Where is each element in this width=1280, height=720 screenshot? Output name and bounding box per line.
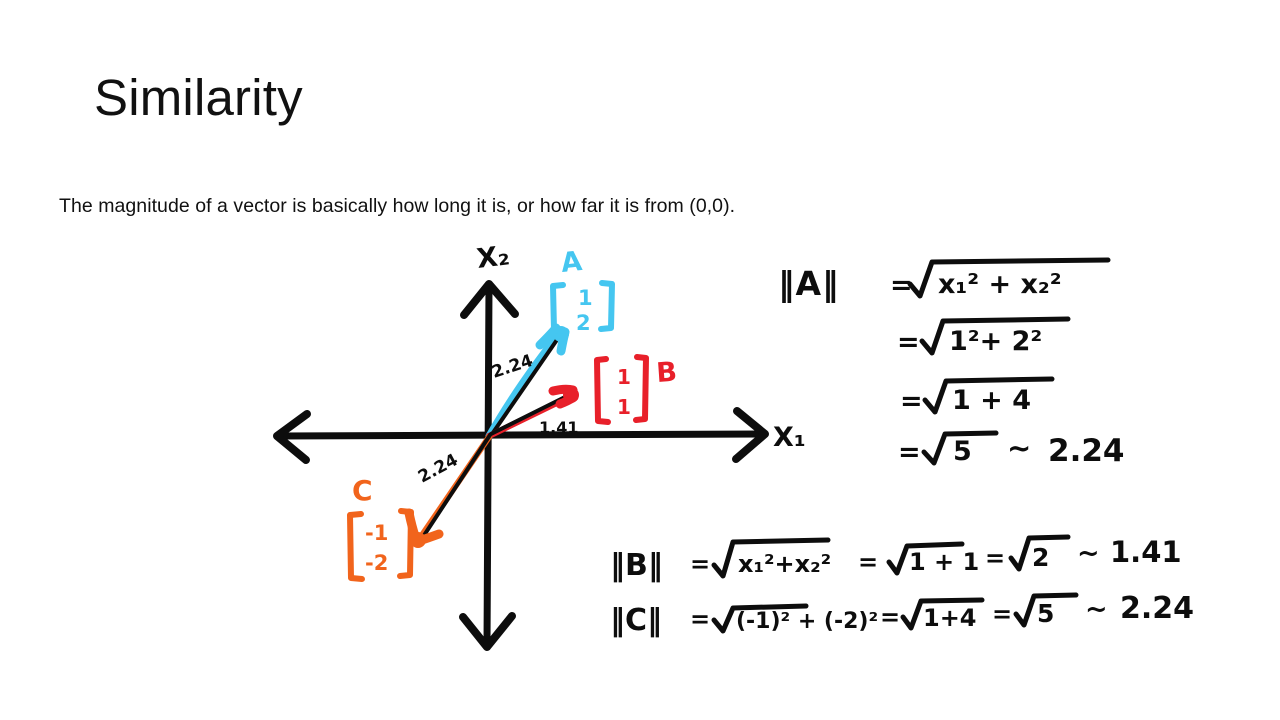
norm-c-value: 2.24: [1120, 591, 1194, 626]
norm-c-radicand-1: (-1)² + (-2)²: [736, 609, 878, 634]
norm-c-equals-1: =: [690, 605, 710, 633]
vector-b-bracket-right: [636, 357, 646, 420]
norm-c-radicand-2: 1+4: [923, 604, 977, 632]
norm-b-radicand-3: 2: [1032, 543, 1049, 572]
norm-b-equals-2: =: [858, 548, 878, 576]
equation-norm-b: ‖B‖ = x₁²+x₂² = 1 + 1 = 2 ~ 1.41: [610, 535, 1182, 583]
norm-b-radicand-2: 1 + 1: [909, 548, 979, 576]
vector-c-magnitude-label: 2.24: [415, 450, 462, 487]
norm-b-equals-1: =: [690, 550, 710, 578]
vector-a-bracket-left: [553, 285, 564, 331]
vector-b-tip-dot: [563, 387, 579, 403]
norm-c-equals-2: =: [880, 603, 900, 631]
vector-c-bracket-left: [350, 514, 362, 579]
norm-b-lhs: ‖B‖: [610, 548, 663, 583]
vector-b-magnitude-label: 1.41: [539, 418, 578, 437]
axis-group: [277, 284, 765, 647]
norm-a-line2-equals: =: [897, 327, 920, 358]
vector-a-label: A: [559, 246, 583, 279]
norm-a-lhs: ‖A‖: [778, 264, 840, 303]
vector-a-bracket-right: [601, 283, 612, 329]
norm-a-line3-radicand: 1 + 4: [952, 385, 1031, 416]
x-axis-label: X₁: [773, 422, 806, 453]
norm-a-line4-approx: ~: [1007, 431, 1031, 465]
norm-a-line4-radicand: 5: [953, 436, 972, 467]
vector-c-line-black-overlay: [421, 435, 490, 540]
y-axis-line: [487, 286, 489, 645]
vector-b-label: B: [655, 357, 678, 389]
norm-b-radicand-1: x₁²+x₂²: [738, 550, 831, 578]
norm-c-equals-3: =: [992, 600, 1012, 628]
norm-c-radicand-3: 5: [1037, 599, 1054, 628]
x-axis-line: [279, 434, 763, 436]
equation-norm-a: ‖A‖ = x₁² + x₂² = 1²+ 2² = 1 + 4 = 5 ~ 2…: [778, 260, 1125, 469]
norm-a-line3-equals: =: [900, 386, 923, 417]
vector-b-component-1: 1: [617, 365, 631, 389]
norm-b-equals-3: =: [985, 544, 1005, 572]
vector-c-label: C: [352, 474, 373, 507]
vector-b-bracket-left: [597, 359, 608, 422]
norm-a-line1-radicand: x₁² + x₂²: [938, 269, 1062, 300]
norm-c-approx: ~: [1085, 594, 1108, 625]
vector-c-component-1: -1: [365, 521, 388, 545]
norm-a-line4-equals: =: [898, 437, 921, 468]
norm-b-value: 1.41: [1110, 535, 1182, 569]
norm-a-line2-radicand: 1²+ 2²: [949, 326, 1042, 357]
handwritten-ink-layer: X₂ X₁ 2.24 A 1 2 1.41 B: [0, 0, 1280, 720]
norm-a-line4-value: 2.24: [1048, 433, 1125, 469]
vector-c-bracket-right: [400, 511, 411, 576]
norm-b-approx: ~: [1077, 538, 1100, 569]
slide-canvas: Similarity The magnitude of a vector is …: [0, 0, 1280, 720]
vector-a-component-2: 2: [576, 311, 591, 335]
vector-c-component-2: -2: [365, 551, 388, 575]
vector-a-component-1: 1: [578, 286, 593, 310]
y-axis-label: X₂: [475, 240, 511, 275]
vector-b-component-2: 1: [617, 395, 631, 419]
equation-norm-c: ‖C‖ = (-1)² + (-2)² = 1+4 = 5 ~ 2.24: [610, 591, 1194, 638]
norm-c-lhs: ‖C‖: [610, 603, 662, 638]
